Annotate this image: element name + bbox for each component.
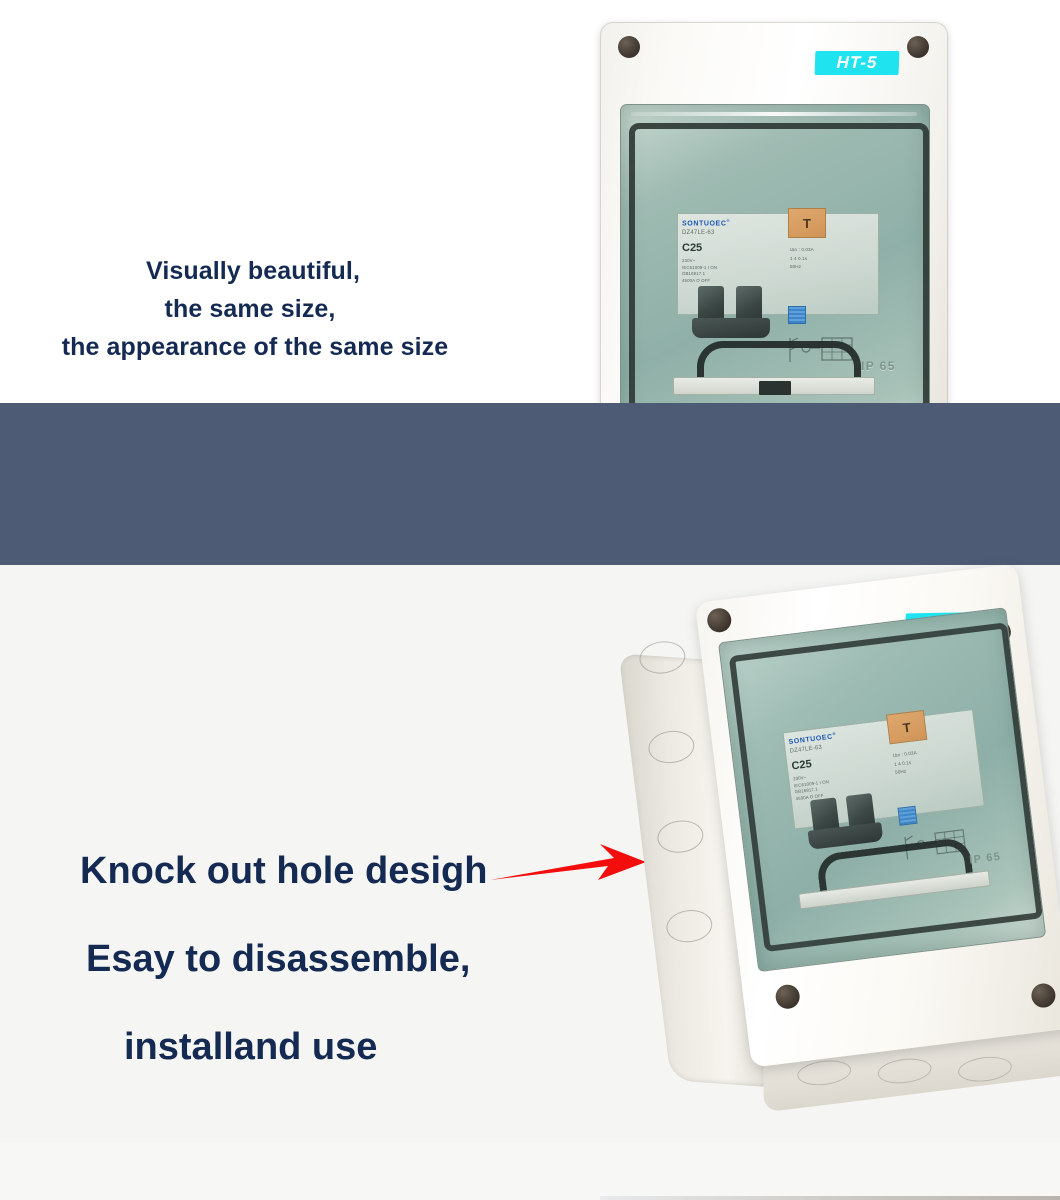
breaker-spec-line: 4500A O OFF <box>682 278 717 285</box>
footer-panel <box>0 1143 1060 1200</box>
breaker-model-label: DZ47LE-63 <box>682 230 714 236</box>
top-caption-line-2: the same size, <box>0 290 520 328</box>
top-caption-line-3: the appearance of the same size <box>0 328 520 366</box>
registered-mark-icon: ® <box>832 731 836 736</box>
breaker-toggle-bar[interactable] <box>692 318 770 338</box>
bottom-caption-block: Knock out hole desigh Esay to disassembl… <box>0 852 540 1066</box>
reset-indicator-button[interactable] <box>788 306 806 324</box>
bottom-caption-line-2: Esay to disassemble, <box>0 940 540 978</box>
bottom-caption-line-3: installand use <box>0 1028 540 1066</box>
registered-mark-icon: ® <box>726 218 730 223</box>
test-button[interactable]: T <box>788 208 826 238</box>
breaker-spec-line: 50Hz <box>895 766 920 778</box>
top-caption-line-1: Visually beautiful, <box>0 252 520 290</box>
ip-rating-label: IP 65 <box>861 359 896 373</box>
right-arrow-icon <box>490 836 650 890</box>
model-badge: HT-5 <box>815 51 900 75</box>
breaker-spec-line: GB16917.1 <box>682 271 717 278</box>
breaker-brand-label: SONTUOEC® <box>788 731 837 746</box>
next-image-edge <box>600 1196 1060 1200</box>
test-button[interactable]: T <box>886 710 927 744</box>
breaker-brand-text: SONTUOEC <box>788 734 833 746</box>
mounting-screw-icon <box>618 36 640 58</box>
section-divider-band <box>0 403 1060 565</box>
reset-indicator-button[interactable] <box>897 806 917 826</box>
transparent-cover: SONTUOEC® DZ47LE-63 C25 230V~ IEC61009-1… <box>718 607 1046 972</box>
breaker-brand-text: SONTUOEC <box>682 220 726 227</box>
breaker-rating-label: C25 <box>791 758 812 772</box>
breaker-right-spec-block: IΔn : 0.03A 1 4 0.1s 50Hz <box>790 246 814 272</box>
breaker-spec-line: 1 4 0.1s <box>790 255 814 264</box>
breaker-spec-line: 50Hz <box>790 263 814 272</box>
product-front-view: HT-5 SONTUOEC® DZ47LE-63 C25 230V~ IEC61… <box>600 22 948 403</box>
cover-latch-tab[interactable] <box>759 381 791 395</box>
product-angled-view: HT-5 SONTUOEC® DZ47LE-63 C25 230V~ IEC61… <box>609 554 1060 1141</box>
top-product-panel: Visually beautiful, the same size, the a… <box>0 0 1060 403</box>
bottom-caption-line-1: Knock out hole desigh <box>0 852 540 890</box>
breaker-rating-label: C25 <box>682 242 702 254</box>
top-caption-block: Visually beautiful, the same size, the a… <box>0 252 520 366</box>
transparent-cover: SONTUOEC® DZ47LE-63 C25 230V~ IEC61009-1… <box>620 104 930 403</box>
breaker-spec-block: 230V~ IEC61009-1 I ON GB16917.1 4500A O … <box>682 258 717 284</box>
mounting-screw-icon <box>907 36 929 58</box>
breaker-right-spec-block: IΔn : 0.03A 1 4 0.1s 50Hz <box>893 749 920 778</box>
breaker-brand-label: SONTUOEC® <box>682 218 730 227</box>
breaker-model-label: DZ47LE-63 <box>789 745 822 755</box>
cover-highlight <box>631 112 917 116</box>
breaker-spec-line: 230V~ <box>682 258 717 265</box>
breaker-spec-line: IEC61009-1 I ON <box>682 265 717 272</box>
breaker-spec-line: IΔn : 0.03A <box>790 246 814 255</box>
circuit-breaker-faceplate: SONTUOEC® DZ47LE-63 C25 230V~ IEC61009-1… <box>677 213 879 315</box>
